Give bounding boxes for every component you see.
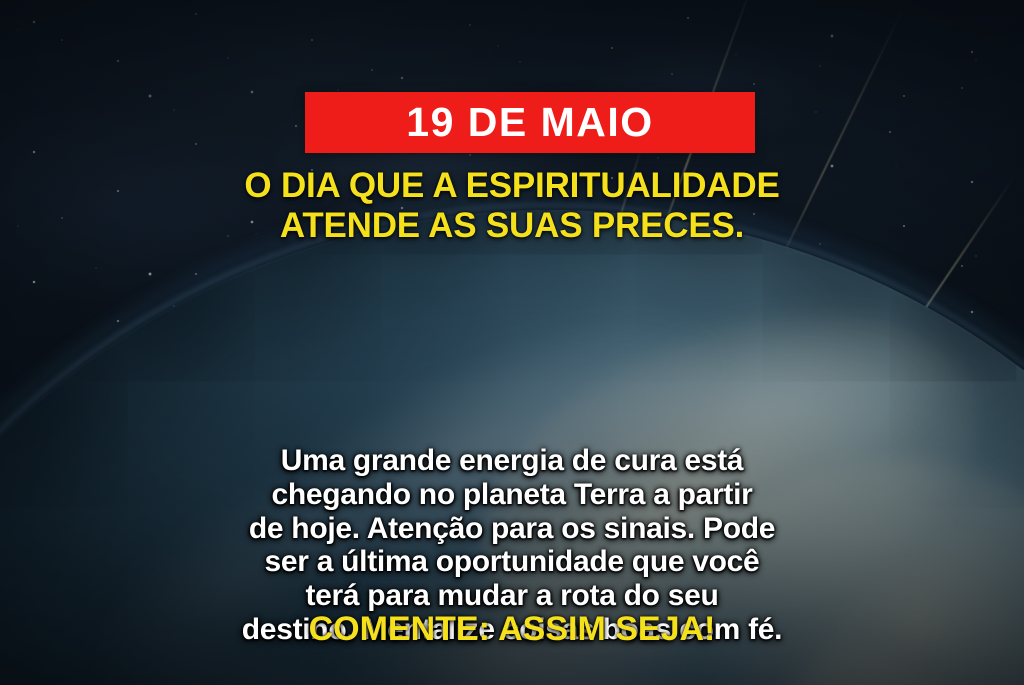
headline: O DIA QUE A ESPIRITUALIDADE ATENDE AS SU… [0,166,1024,246]
body-line-2: chegando no planeta Terra a partir [18,478,1006,512]
headline-line-2: ATENDE AS SUAS PRECES. [40,206,984,246]
poster-canvas: 19 DE MAIO O DIA QUE A ESPIRITUALIDADE A… [0,0,1024,685]
call-to-action-text: COMENTE: ASSIM SEJA! [0,612,1024,646]
headline-line-1: O DIA QUE A ESPIRITUALIDADE [40,166,984,206]
body-line-4: ser a última oportunidade que você [18,545,1006,579]
body-line-1: Uma grande energia de cura está [18,444,1006,478]
body-line-5: terá para mudar a rota do seu [18,579,1006,613]
date-banner: 19 DE MAIO [305,92,755,153]
body-line-3: de hoje. Atenção para os sinais. Pode [18,512,1006,546]
date-banner-text: 19 DE MAIO [406,102,653,143]
poster-content: 19 DE MAIO O DIA QUE A ESPIRITUALIDADE A… [0,0,1024,685]
